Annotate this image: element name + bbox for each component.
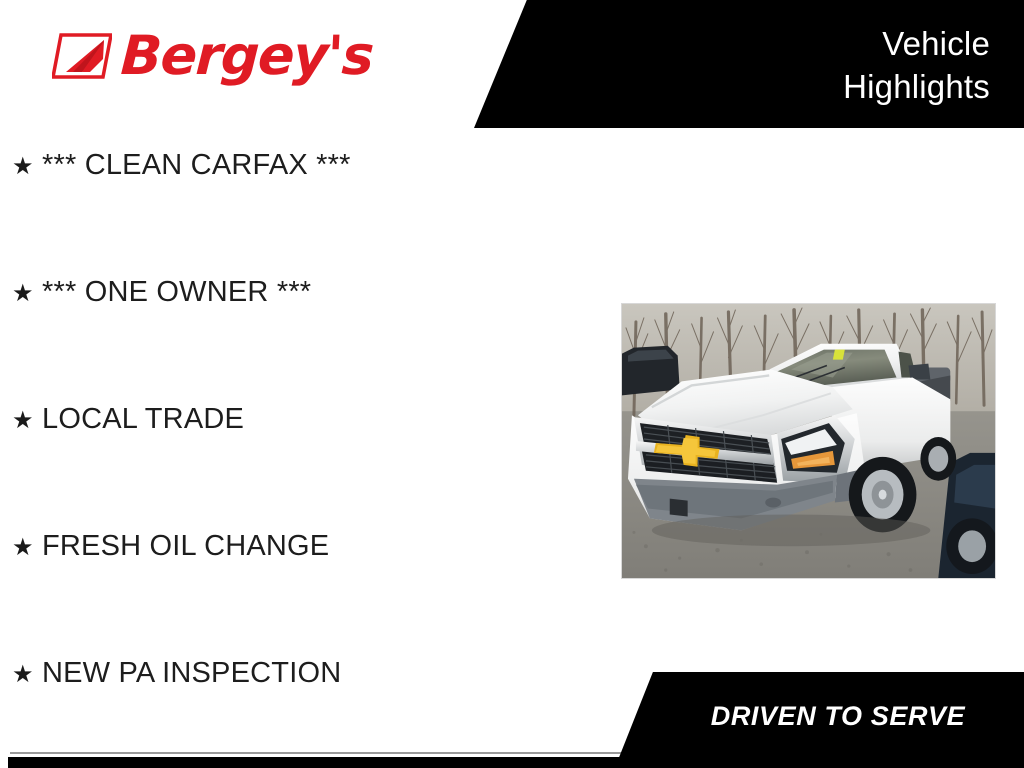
vehicle-photo (621, 303, 996, 579)
highlight-label: LOCAL TRADE (42, 404, 600, 434)
footer-tagline: DRIVEN TO SERVE (618, 672, 1024, 760)
highlight-label: NEW PA INSPECTION (42, 658, 600, 688)
star-bullet-icon: ★ (12, 660, 42, 690)
star-bullet-icon: ★ (12, 152, 42, 182)
star-bullet-icon: ★ (12, 406, 42, 436)
highlight-label: *** ONE OWNER *** (42, 277, 600, 307)
vehicle-highlights-list: ★ *** CLEAN CARFAX *** ★ *** ONE OWNER *… (0, 150, 600, 768)
bergeys-logo[interactable]: Bergey's (52, 26, 373, 86)
list-item: ★ *** ONE OWNER *** (0, 277, 600, 404)
list-item: ★ LOCAL TRADE (0, 404, 600, 531)
list-item: ★ FRESH OIL CHANGE (0, 531, 600, 658)
vehicle-highlights-slide: Vehicle Highlights Bergey's ★ *** CLEAN … (0, 0, 1024, 768)
page-title: Vehicle Highlights (570, 22, 990, 108)
bergeys-wordmark: Bergey's (120, 28, 375, 84)
bergeys-swoosh-mark-icon (52, 33, 112, 79)
header: Vehicle Highlights Bergey's (0, 0, 1024, 128)
star-bullet-icon: ★ (12, 279, 42, 309)
list-item: ★ *** CLEAN CARFAX *** (0, 150, 600, 277)
star-bullet-icon: ★ (12, 533, 42, 563)
highlight-label: FRESH OIL CHANGE (42, 531, 600, 561)
highlight-label: *** CLEAN CARFAX *** (42, 150, 600, 180)
footer-bottom-bar (8, 757, 1024, 768)
